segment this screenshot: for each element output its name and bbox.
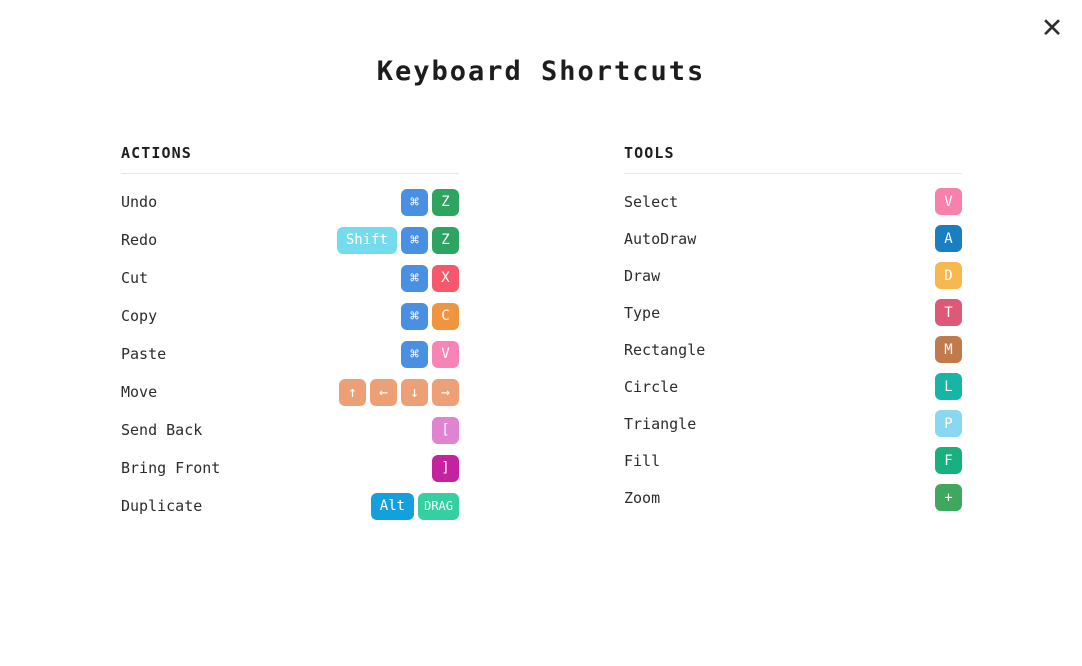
key-badge[interactable]: + [935, 484, 962, 511]
shortcut-label: Bring Front [121, 459, 220, 477]
shortcut-row: TypeT [624, 294, 962, 331]
shortcut-label: Redo [121, 231, 157, 249]
shortcut-label: Triangle [624, 415, 696, 433]
shortcut-keys: ⌘X [401, 265, 459, 292]
shortcut-row: Bring Front] [121, 449, 459, 487]
key-badge[interactable]: ] [432, 455, 459, 482]
key-badge[interactable]: V [432, 341, 459, 368]
key-badge[interactable]: ⌘ [401, 341, 428, 368]
shortcut-keys: ] [432, 455, 459, 482]
key-badge[interactable]: F [935, 447, 962, 474]
shortcut-keys: A [935, 225, 962, 252]
key-badge[interactable]: ⌘ [401, 265, 428, 292]
shortcut-label: Send Back [121, 421, 202, 439]
section-tools: TOOLS SelectVAutoDrawADrawDTypeTRectangl… [624, 144, 962, 525]
key-badge[interactable]: D [935, 262, 962, 289]
section-divider-actions [121, 173, 459, 174]
shortcut-keys: F [935, 447, 962, 474]
shortcut-keys: M [935, 336, 962, 363]
key-badge[interactable]: Shift [337, 227, 397, 254]
shortcut-keys: ⌘Z [401, 189, 459, 216]
shortcut-label: Paste [121, 345, 166, 363]
key-badge[interactable]: T [935, 299, 962, 326]
shortcut-keys: + [935, 484, 962, 511]
shortcut-keys: [ [432, 417, 459, 444]
shortcut-label: Draw [624, 267, 660, 285]
key-badge[interactable]: Z [432, 189, 459, 216]
key-badge[interactable]: X [432, 265, 459, 292]
shortcut-row: TriangleP [624, 405, 962, 442]
shortcut-keys: D [935, 262, 962, 289]
page-title: Keyboard Shortcuts [0, 56, 1082, 87]
key-badge[interactable]: ← [370, 379, 397, 406]
shortcut-row: Copy⌘C [121, 297, 459, 335]
shortcut-label: Rectangle [624, 341, 705, 359]
key-badge[interactable]: → [432, 379, 459, 406]
shortcut-row: RedoShift⌘Z [121, 221, 459, 259]
shortcut-label: AutoDraw [624, 230, 696, 248]
key-badge[interactable]: V [935, 188, 962, 215]
shortcut-row: Paste⌘V [121, 335, 459, 373]
shortcut-label: Duplicate [121, 497, 202, 515]
key-badge[interactable]: ↑ [339, 379, 366, 406]
shortcut-row: DuplicateAltDRAG [121, 487, 459, 525]
shortcut-row: Cut⌘X [121, 259, 459, 297]
key-badge[interactable]: Z [432, 227, 459, 254]
shortcut-label: Type [624, 304, 660, 322]
shortcut-label: Copy [121, 307, 157, 325]
shortcut-row: FillF [624, 442, 962, 479]
section-divider-tools [624, 173, 962, 174]
key-badge[interactable]: ⌘ [401, 303, 428, 330]
shortcut-keys: ⌘V [401, 341, 459, 368]
shortcut-row: Undo⌘Z [121, 183, 459, 221]
shortcut-row: SelectV [624, 183, 962, 220]
key-badge[interactable]: A [935, 225, 962, 252]
section-heading-actions: ACTIONS [121, 144, 459, 162]
key-badge[interactable]: C [432, 303, 459, 330]
key-badge[interactable]: Alt [371, 493, 414, 520]
shortcut-label: Undo [121, 193, 157, 211]
shortcut-row: Move↑←↓→ [121, 373, 459, 411]
shortcut-keys: AltDRAG [371, 493, 459, 520]
shortcut-row: Zoom+ [624, 479, 962, 516]
shortcut-label: Select [624, 193, 678, 211]
shortcut-keys: V [935, 188, 962, 215]
section-heading-tools: TOOLS [624, 144, 962, 162]
shortcut-list-tools: SelectVAutoDrawADrawDTypeTRectangleMCirc… [624, 183, 962, 516]
key-badge[interactable]: ⌘ [401, 227, 428, 254]
shortcut-keys: Shift⌘Z [337, 227, 459, 254]
shortcut-label: Cut [121, 269, 148, 287]
key-badge[interactable]: L [935, 373, 962, 400]
shortcut-list-actions: Undo⌘ZRedoShift⌘ZCut⌘XCopy⌘CPaste⌘VMove↑… [121, 183, 459, 525]
shortcut-keys: T [935, 299, 962, 326]
close-icon: ✕ [1041, 15, 1064, 42]
shortcut-label: Zoom [624, 489, 660, 507]
shortcut-row: AutoDrawA [624, 220, 962, 257]
key-badge[interactable]: P [935, 410, 962, 437]
shortcut-label: Move [121, 383, 157, 401]
shortcut-row: CircleL [624, 368, 962, 405]
key-badge[interactable]: M [935, 336, 962, 363]
shortcut-columns: ACTIONS Undo⌘ZRedoShift⌘ZCut⌘XCopy⌘CPast… [0, 144, 1082, 525]
key-badge[interactable]: ⌘ [401, 189, 428, 216]
shortcut-label: Fill [624, 452, 660, 470]
shortcut-row: DrawD [624, 257, 962, 294]
shortcut-keys: P [935, 410, 962, 437]
shortcut-keys: ⌘C [401, 303, 459, 330]
shortcut-row: Send Back[ [121, 411, 459, 449]
close-button[interactable]: ✕ [1034, 10, 1070, 46]
section-actions: ACTIONS Undo⌘ZRedoShift⌘ZCut⌘XCopy⌘CPast… [121, 144, 459, 525]
shortcut-label: Circle [624, 378, 678, 396]
key-badge[interactable]: ↓ [401, 379, 428, 406]
shortcut-keys: ↑←↓→ [339, 379, 459, 406]
key-badge[interactable]: [ [432, 417, 459, 444]
shortcut-row: RectangleM [624, 331, 962, 368]
shortcut-keys: L [935, 373, 962, 400]
key-badge[interactable]: DRAG [418, 493, 459, 520]
